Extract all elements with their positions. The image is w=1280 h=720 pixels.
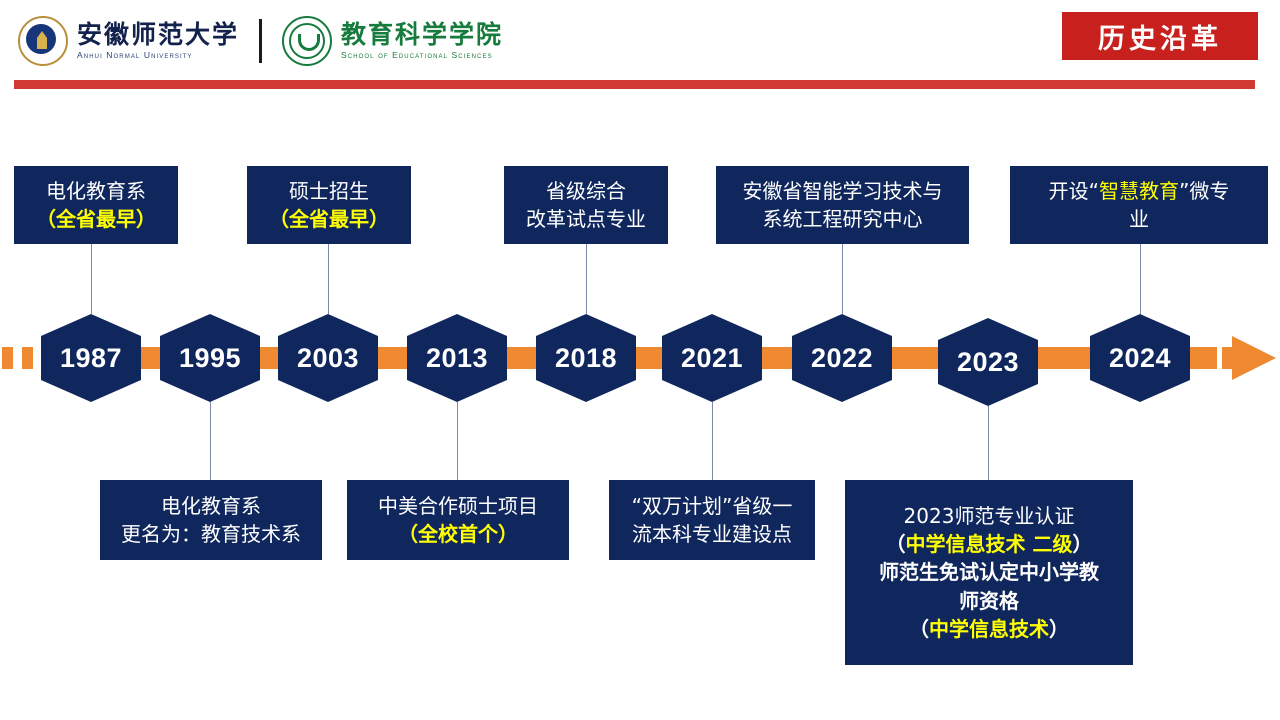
year-label-2024: 2024	[1109, 343, 1171, 374]
connector-2024	[1140, 244, 1141, 314]
university-name-cn: 安徽师范大学	[77, 22, 239, 48]
event-2024-highlight: 智慧教育	[1099, 179, 1179, 203]
slide-title-badge: 历史沿革	[1062, 12, 1258, 60]
year-marker-2003[interactable]: 2003	[278, 314, 378, 402]
event-2023-paren2-close: ）	[1049, 617, 1069, 641]
event-2013-line-2: （全校首个）	[398, 520, 518, 548]
event-2023-line-4: 师资格	[959, 587, 1019, 615]
event-2023-line-2: （中学信息技术 二级）	[886, 530, 1093, 558]
school-name-en: School of Educational Sciences	[341, 50, 503, 60]
event-box-2021[interactable]: “双万计划”省级一 流本科专业建设点	[609, 480, 815, 560]
event-2023-line-1: 2023师范专业认证	[904, 502, 1075, 530]
axis-arrow-icon	[1232, 336, 1276, 380]
year-label-1987: 1987	[60, 343, 122, 374]
axis-dash-start-2	[22, 347, 33, 369]
connector-1987	[91, 244, 92, 314]
year-label-2003: 2003	[297, 343, 359, 374]
year-marker-2024[interactable]: 2024	[1090, 314, 1190, 402]
year-marker-2018[interactable]: 2018	[536, 314, 636, 402]
event-box-2023[interactable]: 2023师范专业认证 （中学信息技术 二级） 师范生免试认定中小学教 师资格 （…	[845, 480, 1133, 665]
connector-2018	[586, 244, 587, 314]
event-2022-line-2: 系统工程研究中心	[763, 205, 923, 233]
connector-2003	[328, 244, 329, 314]
event-box-2013[interactable]: 中美合作硕士项目 （全校首个）	[347, 480, 569, 560]
connector-2023	[988, 402, 989, 480]
year-label-2013: 2013	[426, 343, 488, 374]
event-2021-line-1: “双万计划”省级一	[632, 492, 793, 520]
header-divider-rule	[14, 80, 1255, 89]
slide-title: 历史沿革	[1098, 17, 1222, 56]
university-name-en: Anhui Normal University	[77, 50, 239, 60]
connector-1995	[210, 402, 211, 480]
connector-2013	[457, 402, 458, 480]
event-2023-cert-subject: 中学信息技术	[929, 617, 1049, 641]
connector-2022	[842, 244, 843, 314]
event-box-2024[interactable]: 开设“智慧教育”微专 业	[1010, 166, 1268, 244]
university-seal-icon	[18, 16, 68, 66]
event-1987-line-1: 电化教育系	[46, 177, 146, 205]
event-box-1995[interactable]: 电化教育系 更名为：教育技术系	[100, 480, 322, 560]
year-label-2021: 2021	[681, 343, 743, 374]
year-label-2018: 2018	[555, 343, 617, 374]
event-2018-line-2: 改革试点专业	[526, 205, 646, 233]
slide-header: 安徽师范大学 Anhui Normal University 教育科学学院 Sc…	[0, 0, 1280, 90]
event-box-1987[interactable]: 电化教育系 （全省最早）	[14, 166, 178, 244]
event-1995-line-1: 电化教育系	[161, 492, 261, 520]
school-name-cn: 教育科学学院	[341, 22, 503, 48]
year-marker-2021[interactable]: 2021	[662, 314, 762, 402]
event-2023-line-5: （中学信息技术）	[909, 615, 1069, 643]
axis-dash-end-1	[1206, 347, 1217, 369]
connector-2021	[712, 402, 713, 480]
school-logo-text: 教育科学学院 School of Educational Sciences	[341, 22, 503, 60]
event-2003-line-2: （全省最早）	[269, 205, 389, 233]
event-2013-line-1: 中美合作硕士项目	[378, 492, 538, 520]
year-marker-2023[interactable]: 2023	[938, 318, 1038, 406]
year-label-2022: 2022	[811, 343, 873, 374]
event-1987-line-2: （全省最早）	[36, 205, 156, 233]
logo-group: 安徽师范大学 Anhui Normal University 教育科学学院 Sc…	[18, 12, 503, 70]
event-2021-line-2: 流本科专业建设点	[632, 520, 792, 548]
event-2024-line-2: 业	[1129, 205, 1149, 233]
axis-dash-start-1	[2, 347, 13, 369]
event-box-2003[interactable]: 硕士招生 （全省最早）	[247, 166, 411, 244]
event-2023-cert-level: 中学信息技术 二级	[906, 532, 1073, 556]
event-2023-paren-open: （	[886, 532, 906, 556]
year-label-2023: 2023	[957, 347, 1019, 378]
event-2024-prefix: 开设“	[1049, 179, 1099, 203]
event-2023-paren2-open: （	[909, 617, 929, 641]
event-2018-line-1: 省级综合	[546, 177, 626, 205]
year-label-1995: 1995	[179, 343, 241, 374]
event-2022-line-1: 安徽省智能学习技术与	[743, 177, 943, 205]
logo-divider	[259, 19, 262, 63]
event-box-2022[interactable]: 安徽省智能学习技术与 系统工程研究中心	[716, 166, 969, 244]
year-marker-1995[interactable]: 1995	[160, 314, 260, 402]
year-marker-2022[interactable]: 2022	[792, 314, 892, 402]
event-2023-paren-close: ）	[1072, 532, 1092, 556]
event-2024-suffix: ”微专	[1179, 179, 1229, 203]
event-2024-line-1: 开设“智慧教育”微专	[1049, 177, 1230, 205]
event-1995-line-2: 更名为：教育技术系	[121, 520, 301, 548]
year-marker-2013[interactable]: 2013	[407, 314, 507, 402]
event-box-2018[interactable]: 省级综合 改革试点专业	[504, 166, 668, 244]
event-2023-line-3: 师范生免试认定中小学教	[879, 558, 1099, 586]
slide-root: 安徽师范大学 Anhui Normal University 教育科学学院 Sc…	[0, 0, 1280, 720]
year-marker-1987[interactable]: 1987	[41, 314, 141, 402]
school-seal-icon	[282, 16, 332, 66]
event-2003-line-1: 硕士招生	[289, 177, 369, 205]
university-logo-text: 安徽师范大学 Anhui Normal University	[77, 22, 239, 60]
